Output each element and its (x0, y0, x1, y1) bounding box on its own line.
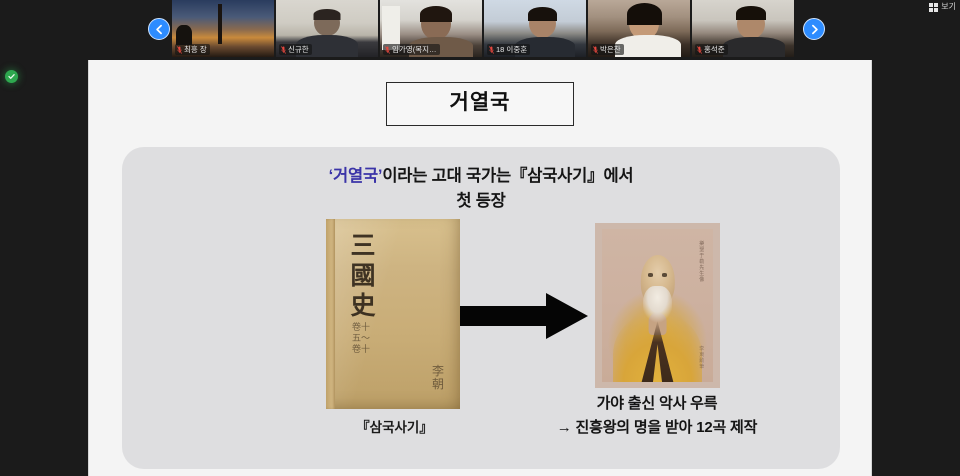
mic-muted-icon (177, 46, 182, 54)
book-cover-subtitle: 卷十五～卷十 (350, 323, 372, 356)
portrait-eye-left (648, 273, 654, 276)
participant-tiles: 최흥 장 신규한 (172, 0, 796, 57)
participant-name-badge: 최흥 장 (175, 44, 210, 55)
portrait-beard (643, 286, 673, 327)
participant-name-badge: 신규한 (279, 44, 312, 55)
participant-name: 박은찬 (600, 45, 621, 54)
participant-tile[interactable]: 홍석준 (692, 0, 794, 57)
slide-lead-text: ‘거열국’이라는 고대 국가는『삼국사기』에서 첫 등장 (122, 164, 840, 214)
participant-tile[interactable]: 박은찬 (588, 0, 690, 57)
book-cover: 三國史 卷十五～卷十 李朝 (326, 219, 460, 409)
participant-name: 신규한 (288, 45, 309, 54)
book-spine (326, 219, 335, 409)
ureuk-portrait-image: 樂聖于勒先生像 李東勳筆 (595, 223, 720, 388)
next-participants-button[interactable] (803, 18, 825, 40)
portrait-inscription-bottom: 李東勳筆 (698, 346, 705, 370)
participant-name-badge: 18 이중훈 (487, 44, 530, 55)
view-mode-button[interactable]: 보기 (929, 2, 956, 12)
portrait-inscription-top: 樂聖于勒先生像 (698, 241, 705, 283)
samguk-sagi-book-image: 三國史 卷十五～卷十 李朝 (326, 219, 460, 409)
previous-participants-button[interactable] (148, 18, 170, 40)
book-cover-title: 三國史 (346, 231, 380, 321)
portrait-eye-right (662, 273, 668, 276)
view-mode-label: 보기 (941, 2, 956, 12)
participant-tile[interactable]: 신규한 (276, 0, 378, 57)
participant-name: 최흥 장 (184, 45, 207, 54)
chevron-left-icon (154, 24, 165, 35)
participant-filmstrip: 최흥 장 신규한 (0, 0, 960, 57)
slide-content-panel: ‘거열국’이라는 고대 국가는『삼국사기』에서 첫 등장 三國史 卷十五～卷十 … (122, 147, 840, 469)
slide-title-box: 거열국 (386, 82, 574, 126)
participant-name: 18 이중훈 (496, 45, 527, 54)
portrait-caption-line1: 가야 출신 악사 우륵 (512, 392, 802, 416)
lead-rest: 이라는 고대 국가는『삼국사기』에서 (382, 167, 633, 185)
participant-name: 임가영(복지… (392, 45, 437, 54)
book-cover-mark: 李朝 (428, 365, 448, 391)
participant-tile[interactable]: 최흥 장 (172, 0, 274, 57)
mic-muted-icon (489, 46, 494, 54)
presentation-slide: 거열국 ‘거열국’이라는 고대 국가는『삼국사기』에서 첫 등장 三國史 卷十五… (89, 60, 871, 476)
lead-highlight: ‘거열국’ (329, 167, 383, 185)
portrait-canvas: 樂聖于勒先生像 李東勳筆 (602, 229, 713, 382)
participant-tile[interactable]: 18 이중훈 (484, 0, 586, 57)
participant-name-badge: 홍석준 (695, 44, 728, 55)
status-badge[interactable] (5, 70, 18, 83)
participant-name: 홍석준 (704, 45, 725, 54)
book-caption: 『삼국사기』 (307, 419, 482, 437)
lead-line2: 첫 등장 (456, 192, 505, 210)
check-circle-icon (7, 72, 16, 81)
participant-name-badge: 임가영(복지… (383, 44, 440, 55)
participant-tile[interactable]: 임가영(복지… (380, 0, 482, 57)
right-arrow-icon (460, 293, 588, 339)
screen-root: 최흥 장 신규한 (0, 0, 960, 476)
chevron-right-icon (809, 24, 820, 35)
mic-muted-icon (385, 46, 390, 54)
page-title: 거열국 (450, 91, 511, 114)
portrait-caption-line2: → 진흥왕의 명을 받아 12곡 제작 (512, 416, 802, 440)
mic-muted-icon (697, 46, 702, 54)
mic-muted-icon (281, 46, 286, 54)
shared-screen-frame: 거열국 ‘거열국’이라는 고대 국가는『삼국사기』에서 첫 등장 三國史 卷十五… (88, 60, 872, 476)
mic-muted-icon (593, 46, 598, 54)
portrait-caption: 가야 출신 악사 우륵 → 진흥왕의 명을 받아 12곡 제작 (512, 392, 802, 440)
participant-name-badge: 박은찬 (591, 44, 624, 55)
grid-icon (929, 3, 938, 12)
